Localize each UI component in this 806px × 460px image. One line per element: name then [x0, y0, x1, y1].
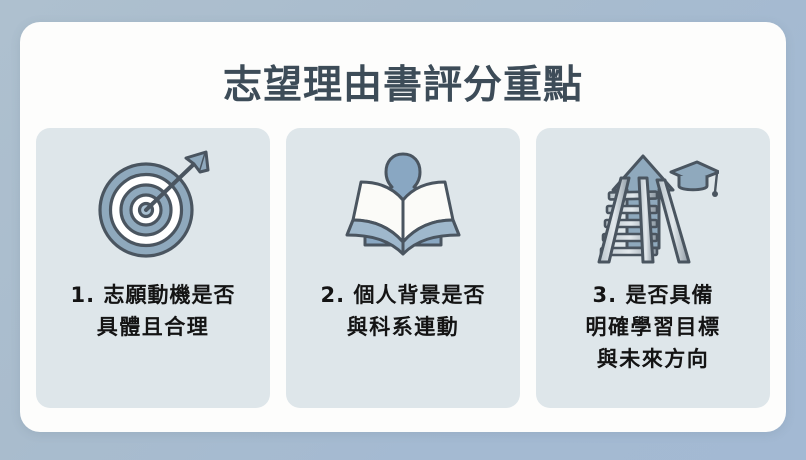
criteria-card-1[interactable]: 1. 志願動機是否 具體且合理	[36, 128, 270, 408]
ladder-arrow-graduation-cap-icon	[578, 140, 728, 272]
poster-background: 志望理由書評分重點	[0, 0, 806, 460]
criteria-card-1-text: 1. 志願動機是否 具體且合理	[48, 280, 258, 344]
target-arrow-icon	[78, 140, 228, 272]
criteria-card-3-text: 3. 是否具備 明確學習目標 與未來方向	[548, 280, 758, 376]
criteria-card-3[interactable]: 3. 是否具備 明確學習目標 與未來方向	[536, 128, 770, 408]
criteria-card-2[interactable]: 2. 個人背景是否 與科系連動	[286, 128, 520, 408]
criteria-card-3-line-2: 明確學習目標	[548, 312, 758, 344]
criteria-card-2-line-1: 2. 個人背景是否	[298, 280, 508, 312]
content-panel: 志望理由書評分重點	[20, 22, 786, 432]
criteria-card-1-line-2: 具體且合理	[48, 312, 258, 344]
criteria-card-list: 1. 志願動機是否 具體且合理	[36, 128, 770, 408]
open-book-person-icon	[328, 140, 478, 272]
criteria-card-2-line-2: 與科系連動	[298, 312, 508, 344]
page-title: 志望理由書評分重點	[20, 54, 786, 110]
criteria-card-1-line-1: 1. 志願動機是否	[48, 280, 258, 312]
criteria-card-3-line-1: 3. 是否具備	[548, 280, 758, 312]
criteria-card-2-text: 2. 個人背景是否 與科系連動	[298, 280, 508, 344]
criteria-card-3-line-3: 與未來方向	[548, 344, 758, 376]
